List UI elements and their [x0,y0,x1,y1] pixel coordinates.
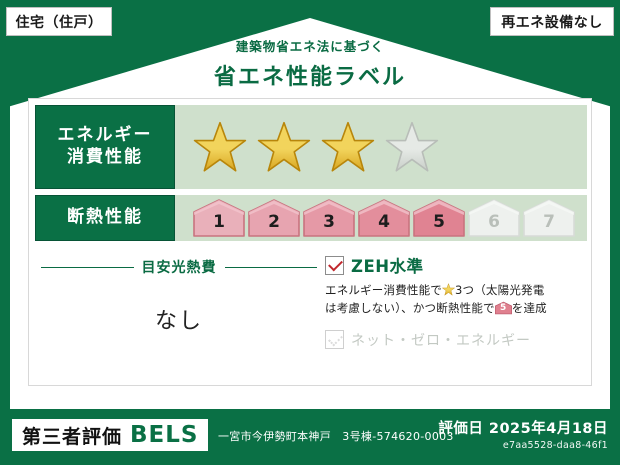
mini-house-icon: 5 [495,301,512,315]
zeh-desc-part1: エネルギー消費性能で [325,283,442,297]
rule-left [41,267,134,268]
net-zero-energy-row: ネット・ゼロ・エネルギー [325,330,583,350]
third-party-eval-label: 第三者評価 [22,422,122,449]
zeh-desc-part2: は考慮しない）、かつ断熱性能で [325,301,495,315]
zeh-description: エネルギー消費性能で3つ（太陽光発電 は考慮しない）、かつ断熱性能で5を達成 [325,282,583,318]
label-title-block: 建築物省エネ法に基づく 省エネ性能ラベル [0,36,620,91]
zeh-header: ZEH水準 [325,253,583,277]
insulation-house-label: 4 [378,212,390,237]
bels-wordmark: BELS [130,422,198,448]
star-1-on [193,121,247,173]
evaluation-info: 評価日 2025年4月18日 e7aa5528-daa8-46f1 [438,417,608,451]
energy-performance-label: エネルギー 消費性能 [35,105,175,189]
row-energy-performance: エネルギー 消費性能 [35,105,587,189]
zeh-desc-part3: を達成 [512,301,547,315]
energy-star-rating [175,105,587,189]
net-zero-checkbox-unchecked [325,330,344,349]
footer-bar: 第三者評価 BELS 一宮市今伊勢町本神戸 3号棟-574620-0003 評価… [0,409,620,465]
title-main: 省エネ性能ラベル [0,59,620,91]
insulation-performance-label: 断熱性能 [35,195,175,241]
insulation-house-2-on: 2 [248,199,300,237]
insulation-house-7-off: 7 [523,199,575,237]
utility-cost-section: 目安光熱費 なし [41,251,317,379]
zeh-section: ZEH水準 エネルギー消費性能で3つ（太陽光発電 は考慮しない）、かつ断熱性能で… [325,251,583,379]
star-2-on [257,121,311,173]
mini-star-icon [442,283,455,296]
star-3-on [321,121,375,173]
evaluation-date: 評価日 2025年4月18日 [438,417,608,438]
zeh-checkbox-checked [325,256,344,275]
energy-label-line2: 消費性能 [67,147,143,169]
insulation-house-1-on: 1 [193,199,245,237]
title-subtitle: 建築物省エネ法に基づく [0,36,620,55]
insulation-house-label: 2 [268,212,280,237]
insulation-house-4-on: 4 [358,199,410,237]
insulation-house-label: 3 [323,212,335,237]
rule-right [225,267,318,268]
badge-building-type: 住宅（住戸） [6,7,112,36]
row-insulation-performance: 断熱性能 1234567 [35,195,587,241]
zeh-desc-star-count: 3つ（太陽光発電 [455,283,544,297]
bels-logo-box: 第三者評価 BELS [12,419,208,451]
performance-card: エネルギー 消費性能 断熱性能 1234567 目安光熱費 なし [28,98,592,386]
insulation-house-label: 6 [488,212,500,237]
star-4-off [385,121,439,173]
insulation-label-line1: 断熱性能 [67,207,143,229]
utility-cost-title: 目安光熱費 [142,257,217,277]
insulation-house-5-on: 5 [413,199,465,237]
insulation-house-6-off: 6 [468,199,520,237]
net-zero-label: ネット・ゼロ・エネルギー [351,330,531,350]
insulation-level-scale: 1234567 [193,199,575,237]
insulation-house-label: 5 [433,212,445,237]
energy-label-line1: エネルギー [58,125,153,147]
utility-cost-header: 目安光熱費 [41,257,317,277]
insulation-house-3-on: 3 [303,199,355,237]
zeh-title: ZEH水準 [351,253,424,277]
mini-house-level: 5 [495,302,512,316]
utility-cost-value: なし [41,303,317,335]
insulation-house-label: 1 [213,212,225,237]
property-address: 一宮市今伊勢町本神戸 3号棟-574620-0003 [218,428,454,444]
evaluation-id: e7aa5528-daa8-46f1 [438,440,608,451]
energy-label-root: 住宅（住戸） 再エネ設備なし 建築物省エネ法に基づく 省エネ性能ラベル エネルギ… [0,0,620,465]
badge-renewable-equipment: 再エネ設備なし [490,7,614,36]
insulation-house-label: 7 [543,212,555,237]
